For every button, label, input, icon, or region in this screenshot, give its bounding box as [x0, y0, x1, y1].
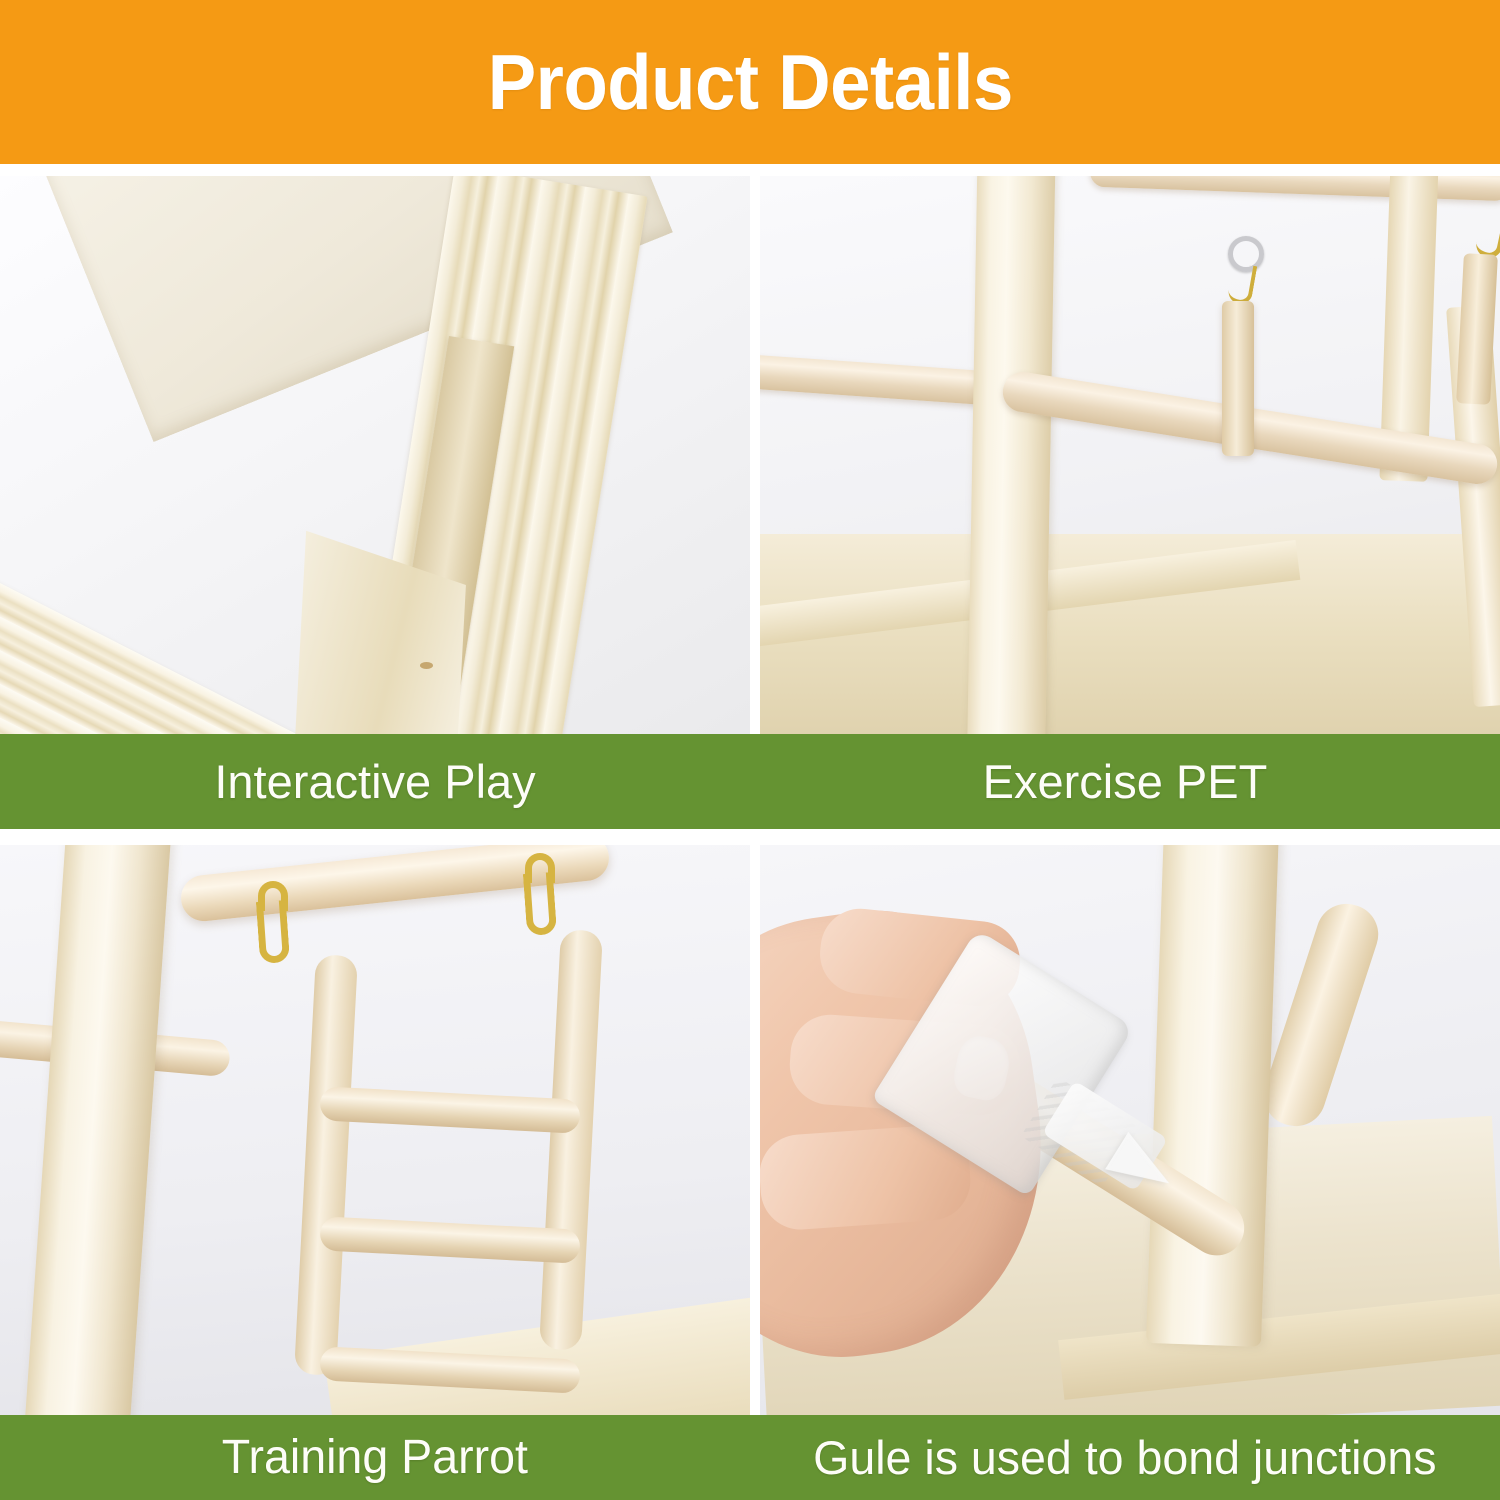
caption-label: Training Parrot — [222, 1434, 528, 1482]
photo-training-parrot — [0, 845, 750, 1415]
photo-exercise-pet — [760, 176, 1500, 734]
ladder-side-rail — [294, 954, 358, 1376]
playstand-post-main — [24, 845, 172, 1415]
perch-dowel-stub — [1256, 896, 1386, 1134]
wood-knot-icon — [420, 662, 433, 669]
caption-cell-interactive-play: Interactive Play — [0, 734, 750, 829]
caption-label: Exercise PET — [983, 758, 1268, 805]
caption-label: Interactive Play — [214, 758, 535, 805]
caption-cell-exercise-pet: Exercise PET — [750, 734, 1500, 829]
s-hook-icon — [523, 872, 557, 936]
playstand-post-main — [967, 176, 1056, 734]
perch-dowel-top — [1090, 176, 1500, 201]
header-banner: Product Details — [0, 0, 1500, 164]
page-title: Product Details — [487, 43, 1012, 121]
ladder-rung — [319, 1086, 580, 1134]
ladder-side-rail — [539, 929, 603, 1351]
caption-label: Gule is used to bond junctions — [813, 1434, 1436, 1481]
product-details-page: Product Details — [0, 0, 1500, 1500]
hanging-wood-bar — [1222, 301, 1254, 456]
photo-row-top — [0, 176, 1500, 734]
caption-cell-glue-junction: Gule is used to bond junctions — [750, 1415, 1500, 1500]
column-gutter — [750, 845, 760, 1415]
caption-cell-training-parrot: Training Parrot — [0, 1415, 750, 1500]
gold-hook-icon — [1227, 262, 1258, 306]
column-gutter — [750, 176, 760, 734]
s-hook-icon — [256, 900, 290, 964]
caption-bar-top: Interactive Play Exercise PET — [0, 734, 1500, 829]
photo-row-bottom — [0, 845, 1500, 1415]
photo-glue-junction — [760, 845, 1500, 1415]
caption-bar-bottom: Training Parrot Gule is used to bond jun… — [0, 1415, 1500, 1500]
playstand-post-main — [1146, 845, 1279, 1347]
ladder-rung — [319, 1216, 580, 1264]
photo-interactive-play — [0, 176, 750, 734]
